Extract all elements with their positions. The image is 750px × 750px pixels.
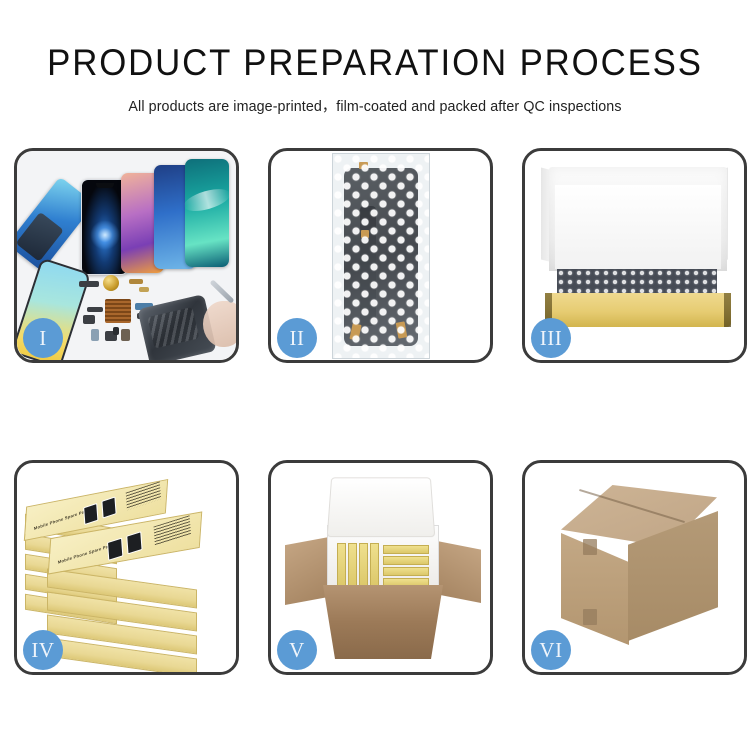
page-subtitle: All products are image-printed，film-coat… [6, 95, 745, 116]
product-preparation-process-page: PRODUCT PREPARATION PROCESS All products… [0, 0, 750, 750]
page-title: PRODUCT PREPARATION PROCESS [23, 44, 728, 81]
step-panel-5[interactable]: V [268, 460, 493, 675]
white-foam-sheet [555, 185, 721, 269]
box-label-phone-image-a [83, 503, 98, 525]
small-part-c [139, 287, 149, 292]
small-part-a [79, 281, 99, 287]
box-label-spec-lines-front [154, 515, 191, 546]
yellow-boxes-inside [335, 541, 431, 587]
bubble-wrap-bag [332, 153, 430, 359]
inner-box-4 [370, 543, 379, 587]
step-badge-5: V [277, 630, 317, 670]
inner-box-5 [383, 545, 429, 554]
step-badge-6: VI [531, 630, 571, 670]
inner-box-3 [359, 543, 368, 587]
box-label-phone-image-d [126, 531, 142, 554]
inner-box-1 [337, 543, 346, 587]
bubble-texture [333, 154, 429, 358]
gold-component [103, 275, 119, 291]
step-badge-1: I [23, 318, 63, 358]
step-panel-6[interactable]: VI [522, 460, 747, 675]
step-panel-4[interactable]: Mobile Phone Spare Parts Mobile Phone Sp… [14, 460, 239, 675]
step-badge-3: III [531, 318, 571, 358]
box-label-text-front: Mobile Phone Spare Parts [58, 542, 115, 565]
header: PRODUCT PREPARATION PROCESS All products… [0, 0, 750, 116]
small-part-g [113, 327, 119, 335]
flex-cable-a [87, 307, 103, 312]
copper-grid-component [105, 299, 131, 323]
box-label-phone-image-c [107, 538, 123, 561]
step-panel-1[interactable]: I [14, 148, 239, 363]
carton-tape-lower [583, 609, 597, 625]
carton-tape-upper [583, 539, 597, 555]
box-label-spec-lines-rear [126, 481, 161, 510]
inner-box-7 [383, 567, 429, 576]
foam-lid [327, 477, 436, 537]
flex-cable-b [83, 315, 95, 324]
yellow-box-tray [545, 293, 731, 327]
small-part-f [121, 329, 130, 341]
inner-box-6 [383, 556, 429, 565]
carton-body [323, 585, 443, 659]
small-part-b [129, 279, 143, 284]
step-badge-4: IV [23, 630, 63, 670]
box-label-phone-image-b [101, 496, 116, 518]
small-part-d [91, 329, 99, 341]
carton-flap-right [437, 541, 481, 603]
step-panel-2[interactable]: II [268, 148, 493, 363]
carton-flap-left [285, 537, 329, 605]
hand [203, 301, 236, 347]
process-steps-grid: I II [14, 148, 736, 708]
teal-gradient-screen [185, 159, 229, 267]
box-label-text-rear: Mobile Phone Spare Parts [34, 507, 91, 531]
step-badge-2: II [277, 318, 317, 358]
bubble-wrapped-contents [557, 269, 717, 295]
inner-box-2 [348, 543, 357, 587]
step-panel-3[interactable]: III [522, 148, 747, 363]
